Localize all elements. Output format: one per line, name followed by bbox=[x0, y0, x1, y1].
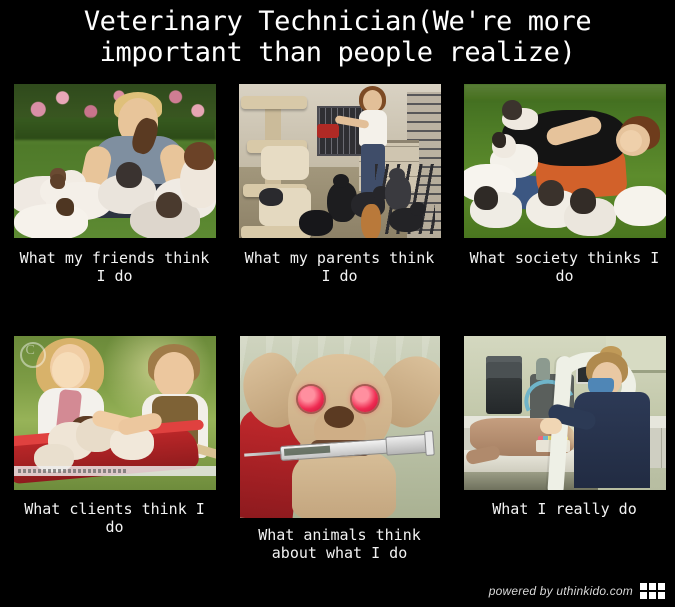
photo-watermark-bar bbox=[14, 466, 216, 476]
girl-face bbox=[52, 352, 84, 388]
puppy bbox=[180, 144, 216, 208]
cat bbox=[385, 176, 411, 210]
panel-image-friends bbox=[14, 84, 216, 238]
panel-caption-parents: What my parents think I do bbox=[227, 249, 452, 285]
panel-caption-society: What society thinks I do bbox=[452, 249, 675, 285]
panel-caption-animals: What animals think about what I do bbox=[227, 526, 452, 562]
panel-image-clients bbox=[14, 336, 216, 490]
puppy bbox=[14, 204, 88, 238]
monitoring-machine bbox=[486, 356, 522, 414]
cat bbox=[299, 210, 333, 236]
copyright-icon bbox=[20, 342, 46, 368]
footer-watermark[interactable]: powered by uthinkido.com bbox=[489, 583, 665, 599]
watermark-text: powered by uthinkido.com bbox=[489, 584, 633, 598]
scene-woman-with-puppies bbox=[464, 84, 666, 238]
grid-icon[interactable] bbox=[640, 583, 665, 599]
page-title: Veterinary Technician(We're more importa… bbox=[0, 6, 675, 68]
cat bbox=[259, 188, 283, 206]
meme-panel-friends[interactable]: What my friends think I do bbox=[2, 84, 227, 285]
puppy bbox=[614, 180, 666, 226]
panel-caption-clients: What clients think I do bbox=[2, 500, 227, 536]
dog-left-eye-red bbox=[298, 386, 324, 412]
woman-face bbox=[620, 130, 642, 152]
meme-panel-society[interactable]: What society thinks I do bbox=[452, 84, 675, 285]
scene-chihuahua-with-syringe bbox=[240, 336, 440, 518]
scene-boy-with-puppies bbox=[14, 84, 216, 238]
meme-panel-parents[interactable]: What my parents think I do bbox=[227, 84, 452, 285]
dog-nose bbox=[324, 406, 354, 428]
panel-image-animals bbox=[240, 336, 440, 518]
panel-caption-friends: What my friends think I do bbox=[2, 249, 227, 285]
cat bbox=[361, 204, 381, 238]
horizon bbox=[464, 84, 666, 100]
meme-grid: What my friends think I do bbox=[0, 84, 675, 584]
vet-tech-scrubs bbox=[574, 392, 650, 488]
scene-kids-with-rabbits bbox=[14, 336, 216, 490]
panel-image-parents bbox=[239, 84, 441, 238]
vet-tech-hand bbox=[540, 418, 562, 434]
puppy bbox=[470, 188, 522, 228]
puppy bbox=[564, 192, 616, 236]
boy-head bbox=[154, 352, 194, 398]
panel-image-reality bbox=[464, 336, 666, 490]
meme-panel-animals[interactable]: What animals think about what I do bbox=[227, 336, 452, 562]
meme-panel-clients[interactable]: What clients think I do bbox=[2, 336, 227, 536]
dog-right-eye-red bbox=[352, 386, 378, 412]
meme-panel-reality[interactable]: What I really do bbox=[452, 336, 675, 518]
panel-caption-reality: What I really do bbox=[452, 500, 675, 518]
puppy bbox=[502, 104, 538, 130]
cat bbox=[389, 208, 423, 232]
scene-vet-clinic bbox=[464, 336, 666, 490]
scene-cat-room bbox=[239, 84, 441, 238]
panel-image-society bbox=[464, 84, 666, 238]
woman-head bbox=[363, 90, 382, 112]
